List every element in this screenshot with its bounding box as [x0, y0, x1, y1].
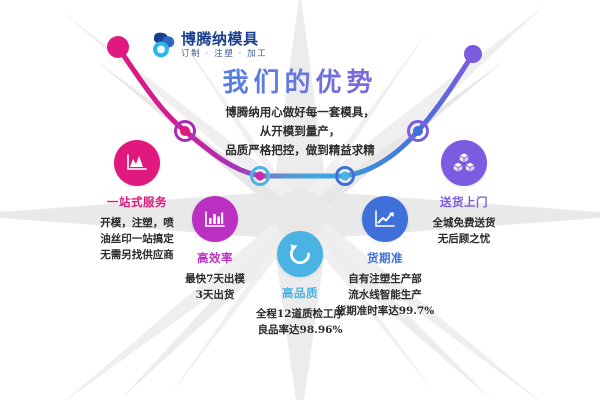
intro-line: 品质严格把控，做到精益求精 [160, 141, 440, 160]
curve-start-dot [107, 36, 129, 58]
feature-body: 自有注塑生产部 流水线智能生产 货期准时率达99.7% [310, 271, 460, 319]
feature-icon-badge[interactable] [114, 140, 160, 186]
feature-body-line: 货期准时率达99.7% [310, 303, 460, 319]
intro-line: 博腾纳用心做好每一套模具， [160, 103, 440, 122]
area-chart-icon [125, 151, 149, 175]
feature-body-line: 无后顾之忧 [389, 231, 539, 247]
logo-mark-icon [146, 30, 176, 60]
logo-company-name: 博腾纳模具 [181, 32, 267, 47]
brand-logo: 博腾纳模具 订制 · 注塑 · 加工 [146, 30, 267, 60]
curve-end-dot [464, 45, 482, 63]
boxes-icon [451, 150, 477, 176]
logo-tagline: 订制 · 注塑 · 加工 [181, 50, 267, 59]
feature-title: 送货上门 [389, 194, 539, 210]
logo-text-group: 博腾纳模具 订制 · 注塑 · 加工 [181, 32, 267, 59]
feature-body-line: 流水线智能生产 [310, 287, 460, 303]
feature-title: 货期准 [310, 250, 460, 266]
intro-line: 从开模到量产， [160, 122, 440, 141]
bar-chart-icon [203, 207, 227, 231]
feature-body-line: 自有注塑生产部 [310, 271, 460, 287]
feature-icon-badge[interactable] [441, 140, 487, 186]
feature-body: 全城免费送货 无后顾之忧 [389, 215, 539, 247]
infographic-canvas: 博腾纳模具 订制 · 注塑 · 加工 我们的优势 博腾纳用心做好每一套模具， 从… [0, 0, 600, 400]
feature-body-line: 全城免费送货 [389, 215, 539, 231]
feature-body-line: 良品率达98.96% [225, 322, 375, 338]
intro-paragraph: 博腾纳用心做好每一套模具， 从开模到量产， 品质严格把控，做到精益求精 [160, 103, 440, 160]
page-title: 我们的优势 [0, 62, 600, 99]
